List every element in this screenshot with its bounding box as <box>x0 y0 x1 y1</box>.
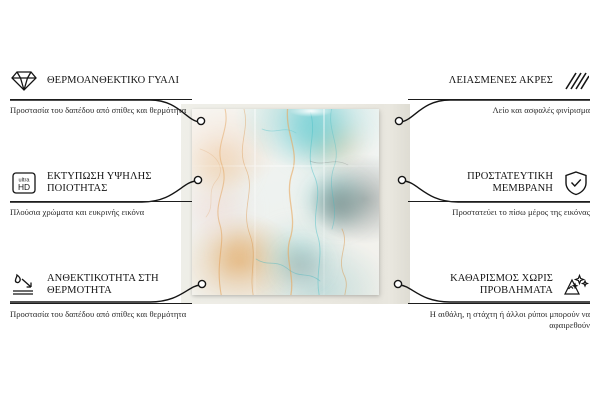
feature-description: Η αιθάλη, η στάχτη ή άλλοι ρύποι μπορούν… <box>408 309 590 331</box>
feature-protective-membrane: ΠΡΟΣΤΑΤΕΥΤΙΚΗ ΜΕΜΒΡΑΝΗ Προστατεύει το πί… <box>408 168 590 218</box>
feature-header: ultra HD ΕΚΤΥΠΩΣΗ ΥΨΗΛΗΣ ΠΟΙΟΤΗΤΑΣ <box>10 168 192 198</box>
feature-header: ΛΕΙΑΣΜΕΝΕΣ ΑΚΡΕΣ <box>408 66 590 96</box>
feature-heat-resistant-glass: ΘΕΡΜΟΑΝΘΕΚΤΙΚΟ ΓΥΑΛΙ Προστασία του δαπέδ… <box>10 66 192 116</box>
feature-title: ΚΑΘΑΡΙΣΜΟΣ ΧΩΡΙΣ ΠΡΟΒΛΗΜΑΤΑ <box>408 273 553 298</box>
feature-header: ΠΡΟΣΤΑΤΕΥΤΙΚΗ ΜΕΜΒΡΑΝΗ <box>408 168 590 198</box>
feature-header: ΚΑΘΑΡΙΣΜΟΣ ΧΩΡΙΣ ΠΡΟΒΛΗΜΑΤΑ <box>408 270 590 300</box>
shield-check-icon <box>562 170 590 196</box>
diamond-icon <box>10 68 38 94</box>
feature-title: ΘΕΡΜΟΑΝΘΕΚΤΙΚΟ ΓΥΑΛΙ <box>47 75 192 88</box>
feature-title: ΠΡΟΣΤΑΤΕΥΤΙΚΗ ΜΕΜΒΡΑΝΗ <box>408 171 553 196</box>
feature-rule <box>408 303 590 304</box>
feature-title: ΕΚΤΥΠΩΣΗ ΥΨΗΛΗΣ ΠΟΙΟΤΗΤΑΣ <box>47 171 192 196</box>
feature-easy-cleaning: ΚΑΘΑΡΙΣΜΟΣ ΧΩΡΙΣ ΠΡΟΒΛΗΜΑΤΑ Η αιθάλη, η … <box>408 270 590 331</box>
feature-description: Λείο και ασφαλές φινίρισμα <box>408 105 590 116</box>
diagonal-lines-icon <box>562 68 590 94</box>
feature-header: ΘΕΡΜΟΑΝΘΕΚΤΙΚΟ ΓΥΑΛΙ <box>10 66 192 96</box>
feature-title: ΛΕΙΑΣΜΕΝΕΣ ΑΚΡΕΣ <box>408 75 553 88</box>
feature-high-quality-print: ultra HD ΕΚΤΥΠΩΣΗ ΥΨΗΛΗΣ ΠΟΙΟΤΗΤΑΣ Πλούσ… <box>10 168 192 218</box>
feature-polished-edges: ΛΕΙΑΣΜΕΝΕΣ ΑΚΡΕΣ Λείο και ασφαλές φινίρι… <box>408 66 590 116</box>
feature-description: Πλούσια χρώματα και ευκρινής εικόνα <box>10 207 192 218</box>
feature-title: ΑΝΘΕΚΤΙΚΟΤΗΤΑ ΣΤΗ ΘΕΡΜΟΤΗΤΑ <box>47 273 192 298</box>
feature-rule <box>408 99 590 100</box>
feature-rule <box>10 99 192 100</box>
feature-header: ΑΝΘΕΚΤΙΚΟΤΗΤΑ ΣΤΗ ΘΕΡΜΟΤΗΤΑ <box>10 270 192 300</box>
glass-glint <box>289 109 333 117</box>
product-feature-infographic: ΘΕΡΜΟΑΝΘΕΚΤΙΚΟ ΓΥΑΛΙ Προστασία του δαπέδ… <box>0 0 600 400</box>
feature-rule <box>408 201 590 202</box>
feature-rule <box>10 303 192 304</box>
svg-text:HD: HD <box>18 182 30 192</box>
sparkle-cloth-icon <box>562 272 590 298</box>
ultra-hd-icon: ultra HD <box>10 170 38 196</box>
feature-rule <box>10 201 192 202</box>
feature-heat-durability: ΑΝΘΕΚΤΙΚΟΤΗΤΑ ΣΤΗ ΘΕΡΜΟΤΗΤΑ Προστασία το… <box>10 270 192 320</box>
product-glass-panel <box>192 109 379 295</box>
glass-window-reflection <box>192 109 379 295</box>
flame-thermometer-icon <box>10 272 38 298</box>
product-image-stage <box>181 104 410 304</box>
feature-description: Προστασία του δαπέδου από σπίθες και θερ… <box>10 309 192 320</box>
feature-description: Προστασία του δαπέδου από σπίθες και θερ… <box>10 105 192 116</box>
feature-description: Προστατεύει το πίσω μέρος της εικόνας <box>408 207 590 218</box>
